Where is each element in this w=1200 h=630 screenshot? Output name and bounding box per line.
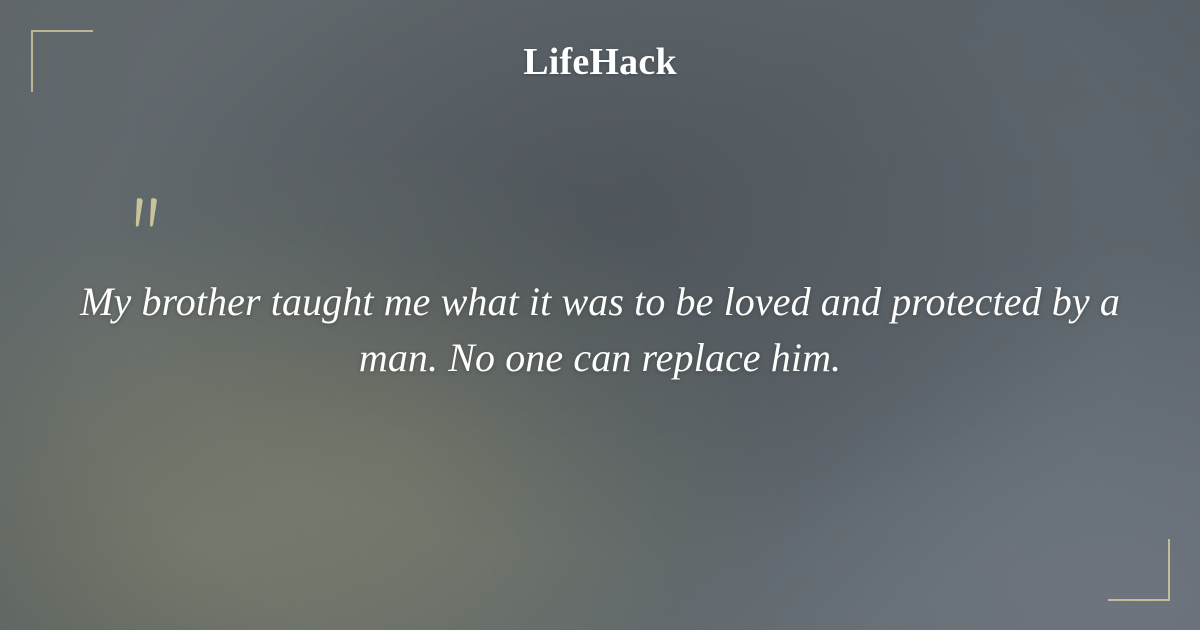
brand-name: LifeHack	[523, 40, 677, 84]
corner-bracket-bottom-right-icon	[1108, 539, 1170, 601]
quote-card: LifeHack My brother taught me what it wa…	[0, 0, 1200, 630]
brand-logo[interactable]: LifeHack	[0, 40, 1200, 84]
quote-text: My brother taught me what it was to be l…	[60, 274, 1140, 386]
card-content: LifeHack My brother taught me what it wa…	[0, 0, 1200, 630]
quote-mark-icon	[128, 196, 176, 244]
